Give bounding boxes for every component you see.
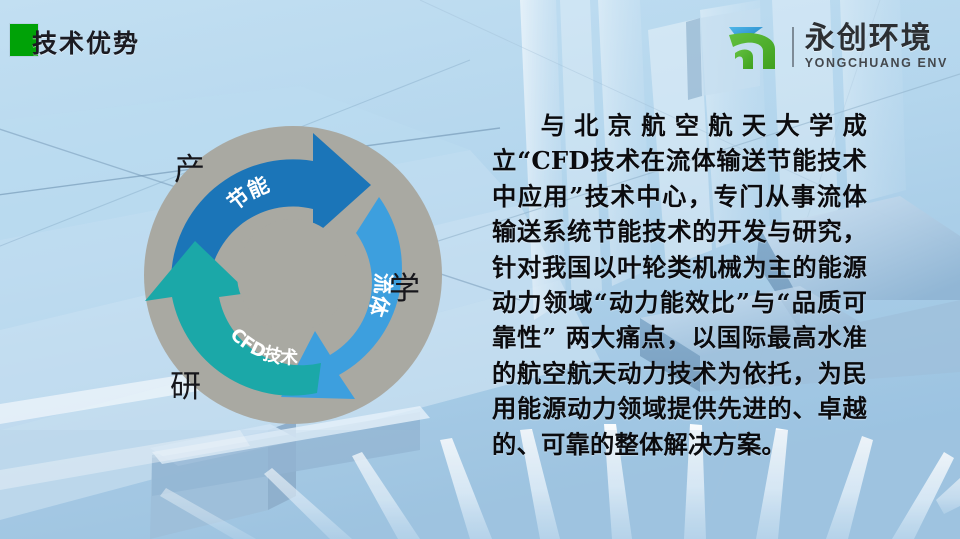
slide: 技术优势 (0, 0, 960, 539)
cycle-outer-label-chan: 产 (174, 144, 205, 189)
logo-name-cn: 永创环境 (805, 24, 948, 54)
cycle-outer-label-xue: 学 (389, 263, 420, 308)
body-paragraph: 与北京航空航天大学成立“CFD技术在流体输送节能技术中应用”技术中心，专门从事流… (492, 108, 867, 462)
logo-name-en: YONGCHUANG ENV (805, 57, 948, 70)
cycle-hub (237, 219, 349, 331)
page-title: 技术优势 (32, 24, 140, 60)
logo-leaf-icon (723, 21, 785, 73)
logo-divider (792, 27, 794, 67)
company-logo: 永创环境 YONGCHUANG ENV (723, 19, 948, 75)
logo-text: 永创环境 YONGCHUANG ENV (805, 24, 948, 70)
cycle-outer-label-yan: 研 (170, 361, 201, 406)
